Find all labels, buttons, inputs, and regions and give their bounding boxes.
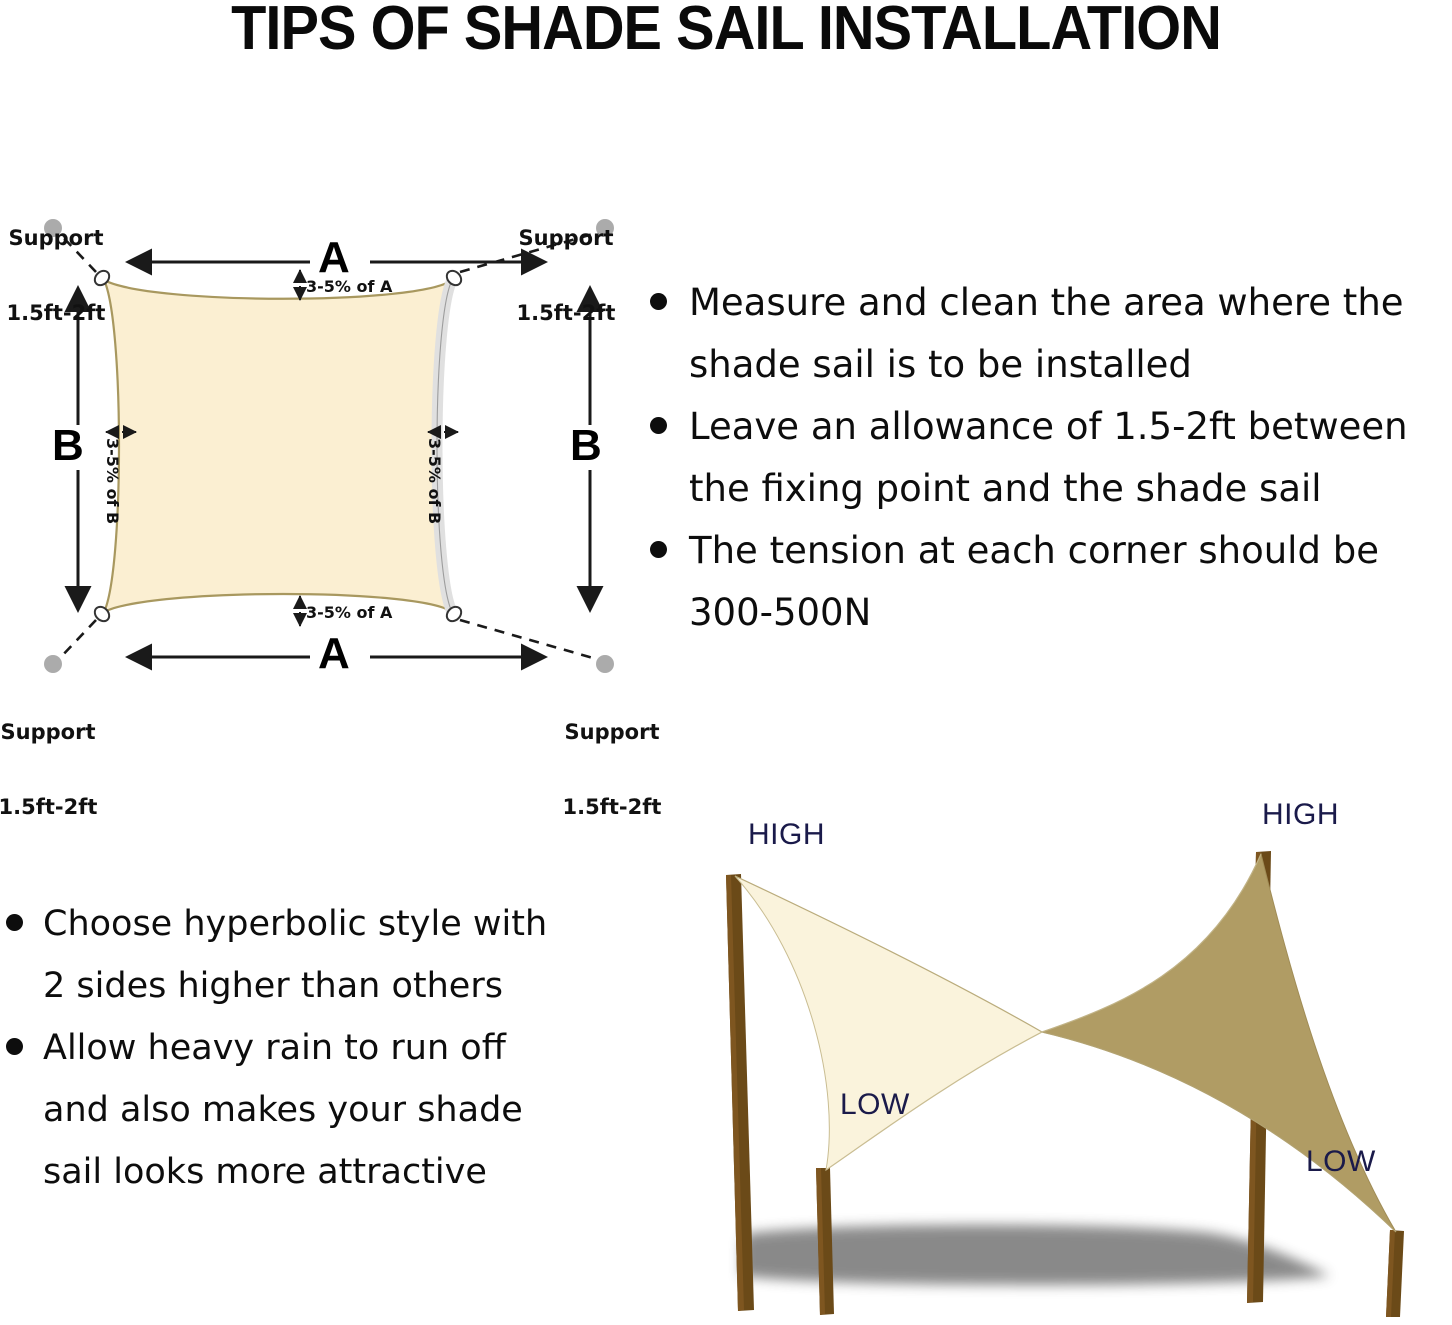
support-label-line2: 1.5ft-2ft (0, 795, 108, 820)
dimension-letter-bottom: A (318, 632, 350, 676)
bullet-dot-icon (650, 541, 667, 558)
list-item: The tension at each corner should be 300… (650, 520, 1452, 644)
list-item-text: Leave an allowance of 1.5-2ft between th… (689, 396, 1452, 520)
support-label-bottom-left: Support 1.5ft-2ft (0, 670, 108, 870)
post-high-left (726, 874, 754, 1311)
support-label-top-left: Support 1.5ft-2ft (0, 176, 116, 376)
support-label-line2: 1.5ft-2ft (0, 301, 116, 326)
list-item-line: sail looks more attractive (43, 1141, 626, 1203)
support-label-line1: Support (0, 226, 116, 251)
hyperbolic-sail-svg (690, 790, 1452, 1325)
label-low-right: LOW (1306, 1145, 1376, 1179)
list-item-line: 2 sides higher than others (43, 955, 626, 1017)
list-item-line: and also makes your shade (43, 1079, 626, 1141)
list-item-line: Allow heavy rain to run off (43, 1017, 626, 1079)
list-item-line: Measure and clean the area where the (689, 272, 1452, 334)
curvature-label-right: 3-5% of B (425, 438, 444, 524)
label-high-left: HIGH (748, 818, 825, 852)
support-label-line2: 1.5ft-2ft (552, 795, 672, 820)
list-item-line: Choose hyperbolic style with (43, 893, 626, 955)
label-high-right: HIGH (1262, 798, 1339, 832)
bullet-dot-icon (650, 417, 667, 434)
sail-shape (104, 280, 452, 612)
list-item-text: The tension at each corner should be 300… (689, 520, 1452, 644)
support-label-line1: Support (0, 720, 108, 745)
list-item-text: Choose hyperbolic style with 2 sides hig… (43, 893, 626, 1017)
support-label-line1: Support (506, 226, 626, 251)
support-label-top-right: Support 1.5ft-2ft (506, 176, 626, 376)
list-item: Allow heavy rain to run off and also mak… (6, 1017, 626, 1203)
post-low-right (1386, 1230, 1404, 1317)
bullet-dot-icon (6, 1038, 23, 1055)
list-item-text: Measure and clean the area where the sha… (689, 272, 1452, 396)
tips-list-left: Choose hyperbolic style with 2 sides hig… (6, 893, 626, 1203)
list-item-line: Leave an allowance of 1.5-2ft between (689, 396, 1452, 458)
list-item-text: Allow heavy rain to run off and also mak… (43, 1017, 626, 1203)
bullet-dot-icon (650, 293, 667, 310)
dimension-letter-right: B (570, 424, 602, 468)
list-item: Leave an allowance of 1.5-2ft between th… (650, 396, 1452, 520)
support-label-line1: Support (552, 720, 672, 745)
label-low-left: LOW (840, 1088, 910, 1122)
list-item: Measure and clean the area where the sha… (650, 272, 1452, 396)
support-label-bottom-right: Support 1.5ft-2ft (552, 670, 672, 870)
hyperbolic-sail-diagram: HIGH HIGH LOW LOW (690, 790, 1452, 1325)
sail-dimension-diagram: Support 1.5ft-2ft Support 1.5ft-2ft Supp… (0, 170, 650, 730)
support-label-line2: 1.5ft-2ft (506, 301, 626, 326)
dimension-letter-left: B (52, 424, 84, 468)
list-item: Choose hyperbolic style with 2 sides hig… (6, 893, 626, 1017)
curvature-label-left: 3-5% of B (103, 438, 122, 524)
curvature-label-top: 3-5% of A (306, 278, 392, 296)
page-title: TIPS OF SHADE SAIL INSTALLATION (51, 0, 1401, 64)
bullet-dot-icon (6, 914, 23, 931)
list-item-line: 300-500N (689, 582, 1452, 644)
list-item-line: shade sail is to be installed (689, 334, 1452, 396)
curvature-label-bottom: 3-5% of A (306, 604, 392, 622)
post-low-left (816, 1168, 834, 1315)
dimension-letter-top: A (318, 236, 350, 280)
infographic-page: TIPS OF SHADE SAIL INSTALLATION (0, 0, 1452, 1325)
list-item-line: the fixing point and the shade sail (689, 458, 1452, 520)
tips-list-right: Measure and clean the area where the sha… (650, 272, 1452, 644)
list-item-line: The tension at each corner should be (689, 520, 1452, 582)
